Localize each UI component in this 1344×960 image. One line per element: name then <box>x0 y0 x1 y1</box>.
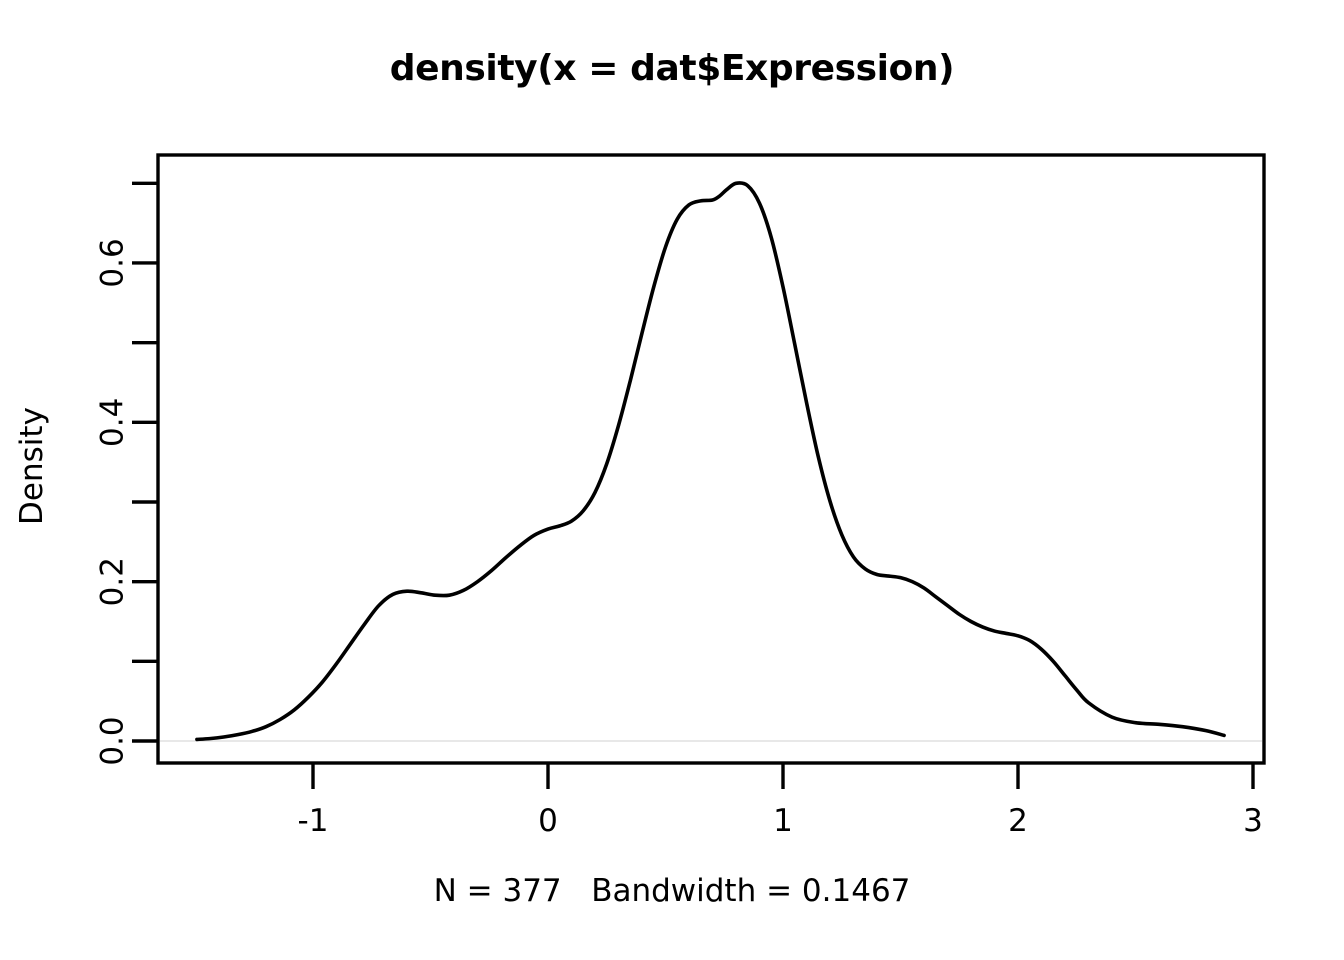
x-tick-label-1: 1 <box>773 803 793 839</box>
chart-canvas: -10123 0.00.20.40.6 <box>0 0 1344 960</box>
x-tick-label-3: 3 <box>1243 803 1263 839</box>
plot-box-group <box>158 155 1264 763</box>
density-plot-figure: density(x = dat$Expression) Density -101… <box>0 0 1344 960</box>
y-tick-label-0.4: 0.4 <box>95 398 131 447</box>
x-axis-tick-labels: -10123 <box>298 803 1263 839</box>
y-axis-tick-labels: 0.00.20.40.6 <box>95 238 131 765</box>
x-axis-ticks <box>313 763 1253 789</box>
x-tick-label--1: -1 <box>298 803 329 839</box>
x-tick-label-2: 2 <box>1008 803 1028 839</box>
y-tick-label-0.2: 0.2 <box>95 557 131 606</box>
plot-frame <box>158 155 1264 763</box>
y-tick-label-0.0: 0.0 <box>95 716 131 765</box>
x-tick-label-0: 0 <box>538 803 558 839</box>
density-curve-group <box>197 183 1224 740</box>
y-axis-ticks <box>132 183 158 741</box>
y-tick-label-0.6: 0.6 <box>95 238 131 287</box>
density-curve <box>197 183 1224 740</box>
x-axis-label: N = 377 Bandwidth = 0.1467 <box>0 873 1344 909</box>
